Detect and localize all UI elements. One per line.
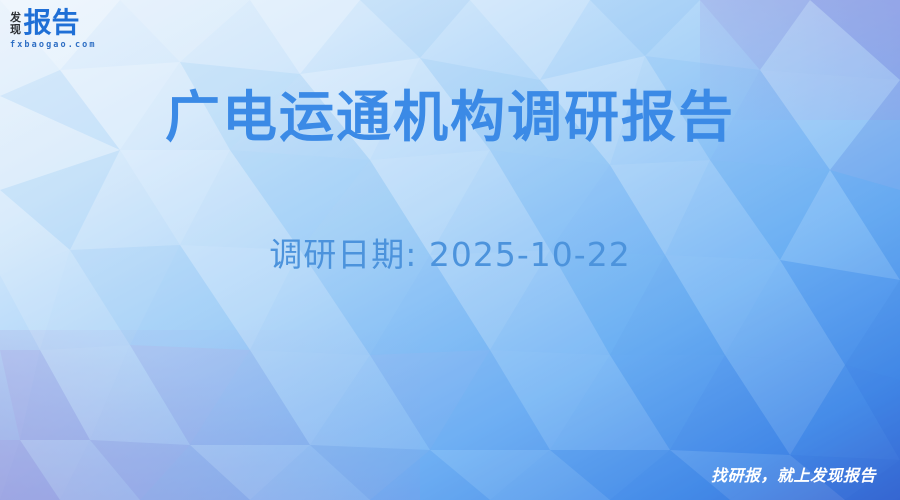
brand-logo[interactable]: 发 现 报告 fxbaogao.com	[10, 9, 97, 50]
logo-char-fa: 发	[10, 12, 21, 24]
title-block: 广电运通机构调研报告	[0, 86, 900, 149]
logo-stacked-chars: 发 现	[10, 11, 21, 36]
footer-slogan: 找研报，就上发现报告	[711, 462, 876, 486]
logo-url: fxbaogao.com	[10, 40, 97, 50]
logo-char-xian: 现	[10, 24, 21, 36]
page-title: 广电运通机构调研报告	[0, 86, 900, 149]
logo-wordmark-row: 发 现 报告	[10, 9, 80, 37]
logo-wordmark: 报告	[24, 9, 80, 37]
report-cover-slide: 发 现 报告 fxbaogao.com 广电运通机构调研报告 调研日期: 202…	[0, 0, 900, 500]
survey-date-subtitle: 调研日期: 2025-10-22	[0, 228, 900, 276]
